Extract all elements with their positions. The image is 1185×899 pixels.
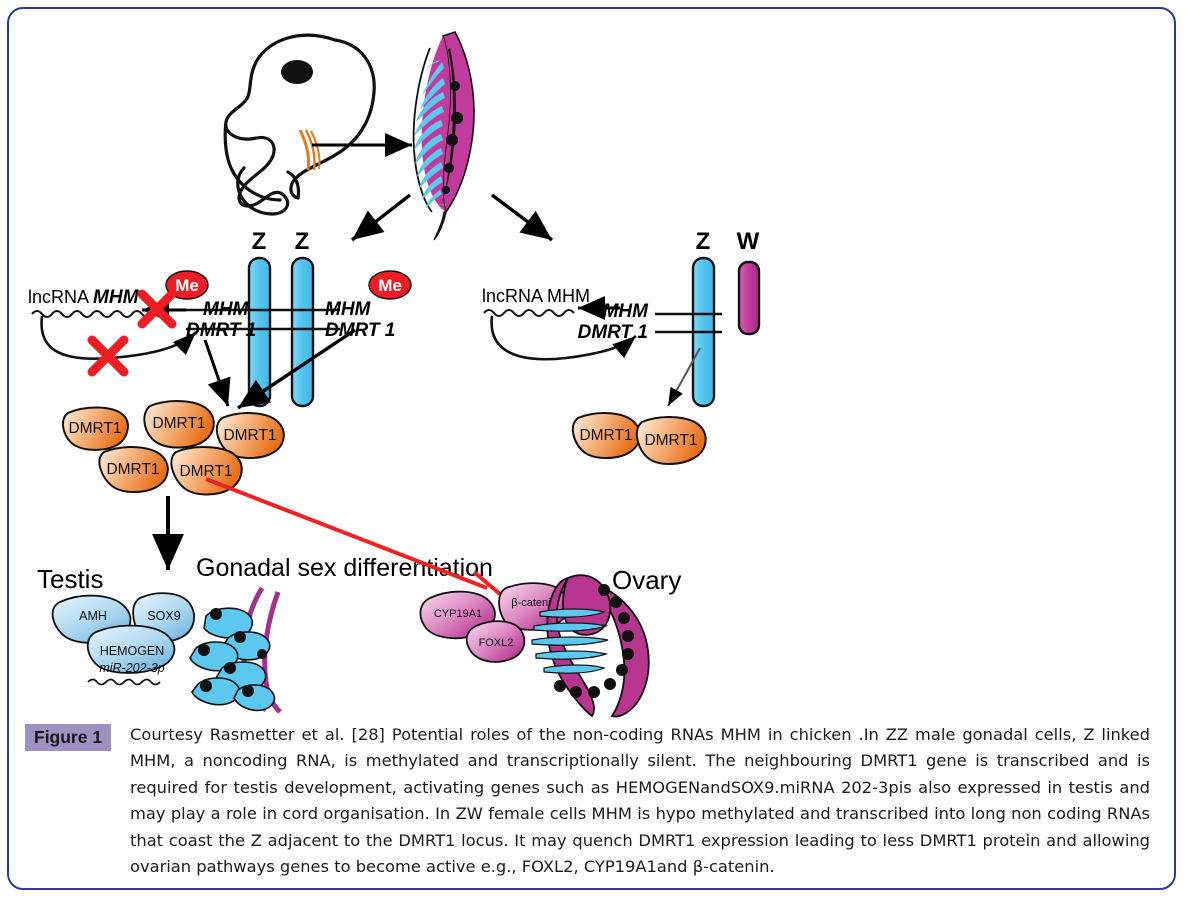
dmrt1-protein: DMRT1 — [144, 401, 213, 447]
outcome-label: Gonadal sex differentiation — [196, 554, 493, 582]
svg-text:AMH: AMH — [79, 609, 107, 623]
svg-text:DMRT1: DMRT1 — [579, 427, 632, 444]
svg-text:DMRT1: DMRT1 — [223, 427, 276, 444]
chromosome-label-w-female: W — [737, 228, 760, 255]
svg-text:Me: Me — [175, 276, 199, 295]
arrow-dmrt1-translation-left — [205, 340, 228, 406]
dmrt1-protein: DMRT1 — [99, 447, 167, 492]
methyl-badge-right: Me — [369, 271, 411, 299]
lncrna-label-female: lncRNA MHM — [482, 286, 590, 306]
pathway-diagram: Z Z MHM DMRT 1 MHM DMRT 1 Me Me — [0, 0, 1185, 730]
svg-text:FOXL2: FOXL2 — [479, 637, 514, 649]
dmrt1-protein: DMRT1 — [63, 407, 128, 449]
female-zw-pathway: Z W MHM DMRT 1 lncRNA MHM DMRT1 — [482, 228, 760, 464]
chicken-embryo-illustration — [225, 35, 412, 214]
mirna-label: miR-202-3p — [99, 661, 164, 675]
svg-text:SOX9: SOX9 — [147, 609, 180, 623]
testis-cords-illustration — [190, 588, 280, 712]
svg-text:DMRT1: DMRT1 — [106, 461, 159, 478]
arrow-gonad-to-male — [352, 195, 410, 240]
svg-text:DMRT1: DMRT1 — [179, 463, 232, 480]
lncrna-label-male: lncRNA MHM — [28, 287, 140, 308]
germ-cell — [451, 112, 463, 124]
dmrt1-protein: DMRT1 — [573, 413, 640, 458]
embryo-gonad-ridge — [300, 130, 309, 170]
svg-text:DMRT1: DMRT1 — [68, 420, 121, 437]
gene-label-dmrt1-right: DMRT 1 — [325, 320, 395, 341]
svg-text:DMRT1: DMRT1 — [644, 432, 697, 449]
germ-cell — [450, 81, 460, 91]
figure-caption-text: Courtesy Rasmetter et al. [28] Potential… — [130, 722, 1150, 880]
bipotential-gonad-illustration — [414, 32, 474, 240]
arrow-gonad-to-female — [492, 195, 552, 240]
ovary-factor-foxl2: FOXL2 — [467, 621, 525, 662]
w-chromosome-female — [739, 262, 759, 334]
chromosome-label-z-female: Z — [696, 228, 711, 255]
lncrna-squiggle-female — [484, 310, 574, 316]
dmrt1-protein: DMRT1 — [637, 417, 706, 464]
germ-cell — [444, 163, 454, 173]
embryo-eye — [281, 60, 313, 84]
svg-text:Me: Me — [378, 276, 402, 295]
gene-label-mhm-female: MHM — [603, 301, 650, 322]
z-chromosome-male-2 — [292, 258, 313, 406]
dmrt1-protein-group-male: DMRT1 DMRT1 DMRT1 DMRT1 DMRT1 — [63, 401, 284, 494]
svg-text:CYP19A1: CYP19A1 — [434, 608, 482, 620]
figure-number-badge: Figure 1 — [25, 724, 111, 751]
germ-cell — [442, 186, 450, 194]
ovary-label: Ovary — [612, 565, 681, 595]
gene-label-dmrt1-female: DMRT 1 — [578, 322, 648, 343]
lncrna-squiggle-male — [32, 311, 152, 317]
mirna-squiggle — [88, 680, 160, 685]
ovary-group: Ovary CYP19A1 β-catenin FOXL2 — [420, 565, 681, 717]
testis-label: Testis — [37, 564, 103, 594]
chromosome-label-z2: Z — [295, 228, 310, 255]
svg-text:DMRT1: DMRT1 — [152, 415, 205, 432]
svg-text:HEMOGEN: HEMOGEN — [100, 644, 165, 658]
testis-group: Testis AMH SOX9 HEMOGEN miR-202-3p — [37, 564, 280, 712]
gene-label-mhm-right: MHM — [325, 299, 372, 320]
gene-label-dmrt1-left: DMRT 1 — [186, 320, 256, 341]
dmrt1-protein-group-female: DMRT1 DMRT1 — [573, 413, 706, 464]
male-zz-pathway: Z Z MHM DMRT 1 MHM DMRT 1 Me Me — [28, 228, 411, 570]
chromosome-label-z1: Z — [252, 228, 267, 255]
figure-page: Z Z MHM DMRT 1 MHM DMRT 1 Me Me — [0, 0, 1185, 899]
gene-label-mhm-left: MHM — [203, 299, 250, 320]
germ-cell — [446, 134, 458, 146]
figure-caption-area: Figure 1 Courtesy Rasmetter et al. [28] … — [25, 722, 1150, 880]
